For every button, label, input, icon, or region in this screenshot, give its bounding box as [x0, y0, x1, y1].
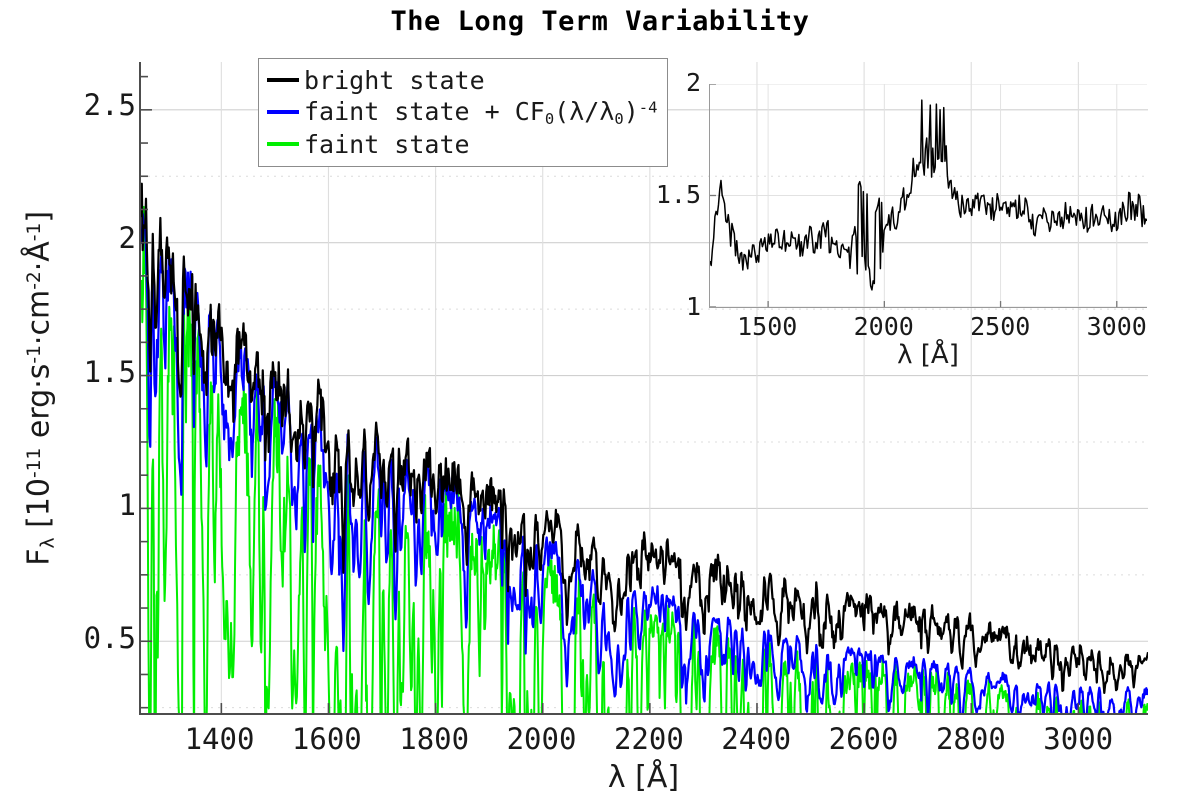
inset-x-tick-3000: 3000 [1062, 312, 1172, 341]
legend-item-faint[interactable]: faint state [267, 128, 657, 160]
legend[interactable]: bright state faint state + CF0(λ/λ0)-4 f… [258, 58, 668, 167]
x-tick-2600: 2600 [804, 722, 924, 756]
y-axis-label-text: Fλ [10-11 erg·s-1·cm-2·Å-1] [22, 211, 57, 566]
legend-label-bright: bright state [304, 66, 485, 95]
inset-plot-area [709, 84, 1147, 308]
x-tick-2200: 2200 [589, 722, 709, 756]
inset-y-tick-1p5: 1.5 [649, 180, 701, 209]
legend-swatch-faint-scaled [267, 110, 299, 114]
inset-y-tick-1: 1 [649, 292, 701, 321]
legend-swatch-faint [267, 142, 299, 146]
inset-gridlines [710, 84, 1147, 307]
inset-x-axis-label: λ [Å] [709, 340, 1147, 370]
x-tick-3000: 3000 [1018, 722, 1138, 756]
page-title: The Long Term Variability [0, 6, 1200, 37]
x-tick-2000: 2000 [482, 722, 602, 756]
inset-x-tick-1500: 1500 [712, 312, 822, 341]
inset-plot-svg [710, 84, 1147, 307]
inset-x-tick-2000: 2000 [829, 312, 939, 341]
legend-item-faint-scaled[interactable]: faint state + CF0(λ/λ0)-4 [267, 96, 657, 128]
figure-root: The Long Term Variability 0.511.522.5 14… [0, 0, 1200, 805]
x-tick-1800: 1800 [374, 722, 494, 756]
x-tick-2400: 2400 [696, 722, 816, 756]
x-tick-2800: 2800 [911, 722, 1031, 756]
x-axis-label: λ [Å] [139, 760, 1148, 795]
legend-swatch-bright [267, 78, 299, 82]
legend-label-faint-scaled: faint state + CF0(λ/λ0)-4 [304, 97, 657, 128]
y-axis-label: Fλ [10-11 erg·s-1·cm-2·Å-1] [22, 58, 59, 718]
inset-x-tick-2500: 2500 [945, 312, 1055, 341]
legend-label-faint: faint state [304, 130, 470, 159]
x-tick-1600: 1600 [267, 722, 387, 756]
legend-item-bright[interactable]: bright state [267, 64, 657, 96]
x-tick-1400: 1400 [160, 722, 280, 756]
